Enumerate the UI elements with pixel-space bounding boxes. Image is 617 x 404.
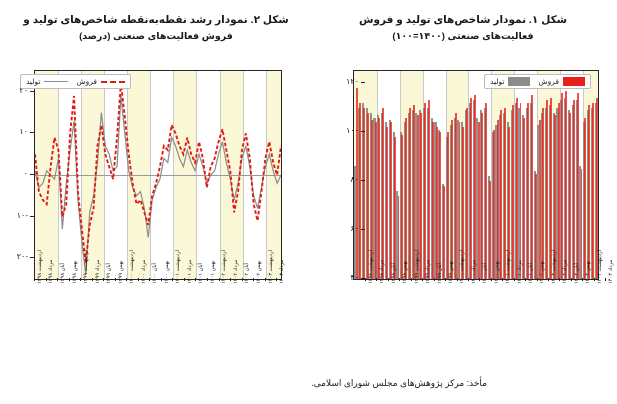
y-axis-label: ۱۰ (8, 127, 28, 136)
x-axis-tick (605, 278, 606, 281)
y-axis-label: ۱۲۰ (339, 77, 359, 86)
y-axis-label: -۱۰ (8, 211, 28, 220)
x-axis-label: آبان ۱۴۰۲ (575, 263, 580, 284)
x-axis-label: بهمن ۱۳۹۹ (449, 261, 454, 284)
x-axis-label: مرداد ۱۴۰۳ (609, 260, 614, 284)
figure-2-panel: فروش تولید -۲۰-۱۰۰۱۰۲۰اردیبهشت ۱۳۹۸مرداد… (8, 58, 308, 358)
x-axis-tick (242, 278, 243, 281)
x-axis-label: اردیبهشت ۱۳۹۹ (84, 250, 89, 284)
x-axis-tick (548, 278, 549, 281)
x-axis-tick (434, 278, 435, 281)
x-axis-label: آبان ۱۴۰۰ (153, 263, 158, 284)
x-axis-label: اردیبهشت ۱۴۰۲ (552, 250, 557, 284)
x-axis-label: مرداد ۱۴۰۰ (142, 260, 147, 284)
figure-page: شکل ۱. نمودار شاخص‌های تولید و فروش فعال… (0, 0, 617, 404)
figure-1-panel: فروش تولید ۴۰۶۰۸۰۱۰۰۱۲۰اردیبهشت ۱۳۹۸مردا… (309, 58, 609, 358)
x-axis-tick (161, 278, 162, 281)
x-axis-label: مرداد ۱۴۰۲ (563, 260, 568, 284)
x-axis-tick (457, 278, 458, 281)
x-axis-tick (559, 278, 560, 281)
x-axis-tick (46, 278, 47, 281)
x-axis-label: مرداد ۱۴۰۱ (518, 260, 523, 284)
x-axis-tick (172, 278, 173, 281)
x-axis-tick (365, 278, 366, 281)
x-axis-tick (103, 278, 104, 281)
x-axis-tick (219, 278, 220, 281)
line-series-canvas (35, 71, 281, 279)
x-axis-label: بهمن ۱۳۹۸ (403, 261, 408, 284)
y-axis-label: ۴۰ (339, 273, 359, 282)
x-axis-label: بهمن ۱۴۰۱ (540, 261, 545, 284)
sales-swatch-icon (563, 77, 585, 86)
x-axis-label: آبان ۱۳۹۸ (61, 263, 66, 284)
x-axis-tick (525, 278, 526, 281)
legend-label-sales: فروش (76, 77, 97, 86)
x-axis-tick (468, 278, 469, 281)
x-axis-tick (138, 278, 139, 281)
x-axis-tick (265, 278, 266, 281)
figure-2-title-line1: شکل ۲. نمودار رشد نقطه‌به‌نقطه شاخص‌های … (10, 12, 302, 29)
x-axis-tick (399, 278, 400, 281)
figure-1-plot-area (353, 70, 599, 280)
legend-label-production: تولید (490, 77, 504, 86)
x-axis-tick (388, 278, 389, 281)
x-axis-label: آبان ۱۳۹۹ (438, 263, 443, 284)
x-axis-label: اردیبهشت ۱۴۰۰ (130, 250, 135, 284)
y-axis-tick (30, 132, 34, 133)
production-solid-line-icon (44, 81, 68, 82)
y-axis-tick (30, 216, 34, 217)
x-axis-tick (514, 278, 515, 281)
x-axis-label: بهمن ۱۴۰۲ (257, 261, 262, 284)
x-axis-label: مرداد ۱۴۰۳ (280, 260, 285, 284)
legend-item-sales[interactable]: فروش (538, 77, 585, 86)
x-axis-tick (582, 278, 583, 281)
y-axis-label: ۸۰ (339, 175, 359, 184)
sales-dashed-line-icon (101, 81, 125, 83)
x-axis-label: بهمن ۱۴۰۰ (165, 261, 170, 284)
figure-2-legend: فروش تولید (20, 74, 131, 89)
x-axis-label: آبان ۱۳۹۹ (107, 263, 112, 284)
x-axis-label: مرداد ۱۴۰۱ (188, 260, 193, 284)
x-axis-tick (276, 278, 277, 281)
x-axis-tick (571, 278, 572, 281)
x-axis-tick (115, 278, 116, 281)
y-axis-tick (361, 131, 365, 132)
x-axis-label: اردیبهشت ۱۴۰۱ (176, 250, 181, 284)
legend-item-production[interactable]: تولید (490, 77, 530, 86)
legend-item-sales[interactable]: فروش (76, 77, 125, 86)
x-axis-tick (230, 278, 231, 281)
x-axis-tick (184, 278, 185, 281)
x-axis-label: مرداد ۱۳۹۸ (49, 260, 54, 284)
y-axis-label: ۰ (8, 169, 28, 178)
x-axis-label: آبان ۱۴۰۱ (529, 263, 534, 284)
x-axis-tick (57, 278, 58, 281)
x-axis-tick (126, 278, 127, 281)
y-axis-tick (30, 257, 34, 258)
y-axis-label: ۶۰ (339, 224, 359, 233)
x-axis-label: آبان ۱۳۹۸ (392, 263, 397, 284)
legend-label-production: تولید (26, 77, 40, 86)
x-axis-label: بهمن ۱۴۰۰ (495, 261, 500, 284)
x-axis-tick (69, 278, 70, 281)
x-axis-label: اردیبهشت ۱۴۰۲ (222, 250, 227, 284)
y-axis-tick (30, 91, 34, 92)
production-swatch-icon (508, 77, 530, 86)
x-axis-tick (207, 278, 208, 281)
x-axis-label: بهمن ۱۴۰۲ (586, 261, 591, 284)
x-axis-label: مرداد ۱۳۹۸ (380, 260, 385, 284)
y-axis-tick (361, 82, 365, 83)
x-axis-tick (149, 278, 150, 281)
y-axis-label: ۱۰۰ (339, 126, 359, 135)
figure-2-title: شکل ۲. نمودار رشد نقطه‌به‌نقطه شاخص‌های … (10, 12, 302, 45)
line-sales (35, 83, 281, 262)
x-axis-tick (34, 278, 35, 281)
x-axis-tick (80, 278, 81, 281)
figure-1-title: شکل ۱. نمودار شاخص‌های تولید و فروش فعال… (317, 12, 609, 45)
x-axis-label: اردیبهشت ۱۴۰۳ (269, 250, 274, 284)
x-axis-tick (253, 278, 254, 281)
x-axis-tick (491, 278, 492, 281)
x-axis-tick (537, 278, 538, 281)
x-axis-tick (445, 278, 446, 281)
y-axis-tick (361, 180, 365, 181)
x-axis-label: آبان ۱۴۰۲ (245, 263, 250, 284)
x-axis-tick (92, 278, 93, 281)
y-axis-tick (30, 174, 34, 175)
x-axis-label: مرداد ۱۳۹۹ (96, 260, 101, 284)
x-axis-label: آبان ۱۴۰۰ (483, 263, 488, 284)
x-axis-label: مرداد ۱۴۰۲ (234, 260, 239, 284)
x-axis-label: بهمن ۱۳۹۸ (73, 261, 78, 284)
x-axis-label: مرداد ۱۳۹۹ (426, 260, 431, 284)
figure-1-title-line1: شکل ۱. نمودار شاخص‌های تولید و فروش (317, 12, 609, 29)
source-note: مأخذ: مرکز پژوهش‌های مجلس شورای اسلامی. (311, 378, 487, 389)
figure-2-plot-area (34, 70, 282, 280)
x-axis-label: اردیبهشت ۱۴۰۰ (460, 250, 465, 284)
x-axis-label: آبان ۱۴۰۱ (199, 263, 204, 284)
x-axis-tick (376, 278, 377, 281)
x-axis-label: اردیبهشت ۱۳۹۹ (415, 250, 420, 284)
x-axis-label: بهمن ۱۴۰۱ (211, 261, 216, 284)
x-axis-label: بهمن ۱۳۹۹ (119, 261, 124, 284)
figure-2-title-line2: فروش فعالیت‌های صنعتی (درصد) (10, 29, 302, 45)
x-axis-label: اردیبهشت ۱۳۹۸ (38, 250, 43, 284)
x-axis-tick (195, 278, 196, 281)
y-axis-label: -۲۰ (8, 252, 28, 261)
y-axis-tick (361, 229, 365, 230)
figure-1-legend: فروش تولید (484, 74, 591, 89)
x-axis-label: اردیبهشت ۱۴۰۱ (506, 250, 511, 284)
x-axis-tick (422, 278, 423, 281)
legend-item-production[interactable]: تولید (26, 77, 68, 86)
x-axis-tick (411, 278, 412, 281)
x-axis-label: مرداد ۱۴۰۰ (472, 260, 477, 284)
x-axis-tick (479, 278, 480, 281)
x-axis-tick (502, 278, 503, 281)
figure-1-title-line2: فعالیت‌های صنعتی (۱۴۰۰=۱۰۰) (317, 29, 609, 45)
x-axis-label: اردیبهشت ۱۳۹۸ (369, 250, 374, 284)
x-axis-tick (594, 278, 595, 281)
legend-label-sales: فروش (538, 77, 559, 86)
x-axis-label: اردیبهشت ۱۴۰۳ (598, 250, 603, 284)
